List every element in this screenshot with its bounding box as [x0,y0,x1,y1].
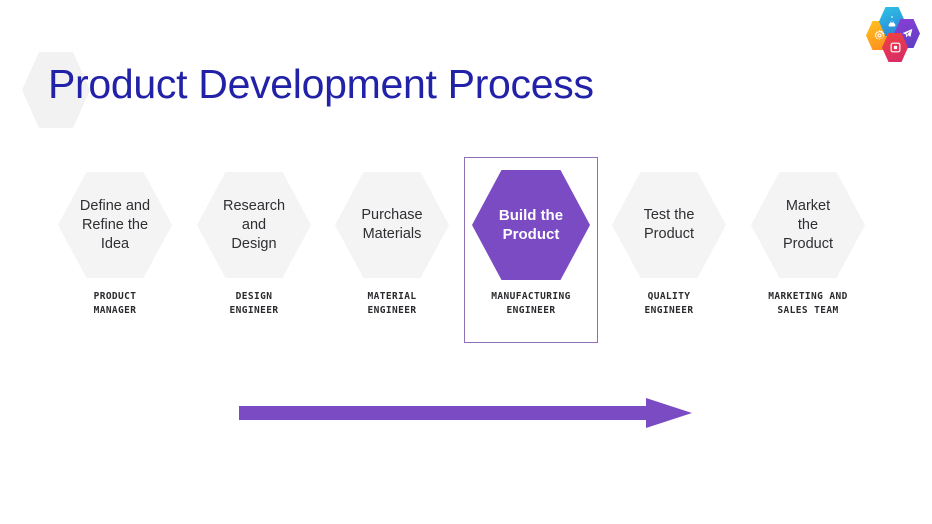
brand-logo [866,6,922,62]
process-steps-row: Define and Refine the Idea PRODUCT MANAG… [0,150,932,350]
process-step-5[interactable]: Test the Product QUALITY ENGINEER [602,150,736,345]
page-title: Product Development Process [48,60,594,109]
step-hexagon[interactable]: Research and Design [197,172,311,278]
step-label: Market the Product [771,197,845,254]
process-step-4-active[interactable]: Build the Product MANUFACTURING ENGINEER [464,150,598,345]
progress-arrow-icon [239,398,692,428]
step-role-caption: PRODUCT MANAGER [48,290,182,318]
step-role-caption: MATERIAL ENGINEER [325,290,459,318]
process-step-2[interactable]: Research and Design DESIGN ENGINEER [187,150,321,345]
process-step-3[interactable]: Purchase Materials MATERIAL ENGINEER [325,150,459,345]
process-step-1[interactable]: Define and Refine the Idea PRODUCT MANAG… [48,150,182,345]
step-role-caption: DESIGN ENGINEER [187,290,321,318]
step-label: Build the Product [487,206,575,244]
step-label: Purchase Materials [349,206,434,244]
step-label: Define and Refine the Idea [68,197,162,254]
step-role-caption: QUALITY ENGINEER [602,290,736,318]
process-step-6[interactable]: Market the Product MARKETING AND SALES T… [741,150,875,345]
step-role-caption: MANUFACTURING ENGINEER [464,290,598,318]
step-hexagon[interactable]: Market the Product [751,172,865,278]
step-role-caption: MARKETING AND SALES TEAM [741,290,875,318]
step-label: Test the Product [632,206,707,244]
step-hexagon[interactable]: Test the Product [612,172,726,278]
title-block: Product Development Process [0,24,932,110]
step-label: Research and Design [211,197,297,254]
step-hexagon[interactable]: Purchase Materials [335,172,449,278]
step-hexagon[interactable]: Define and Refine the Idea [58,172,172,278]
